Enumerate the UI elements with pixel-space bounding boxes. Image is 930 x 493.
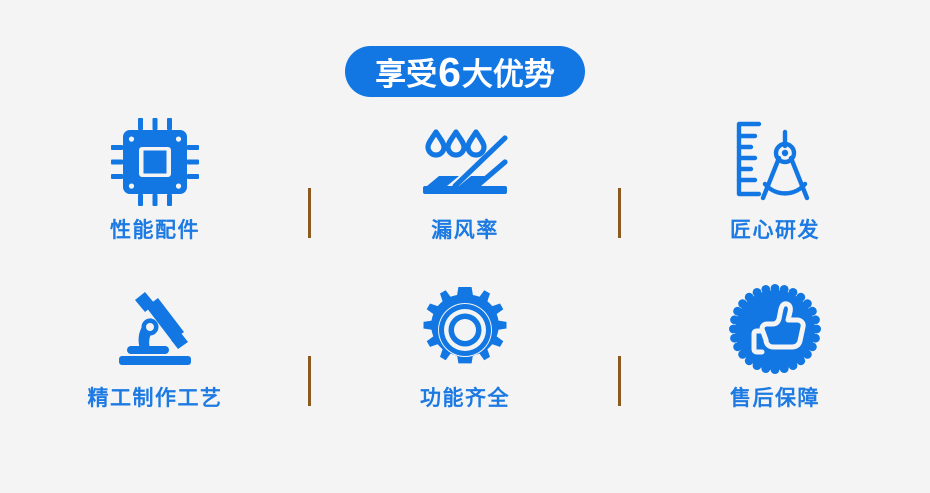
feature-label: 售后保障 — [730, 388, 820, 409]
feature-item-performance-parts: 性能配件 — [0, 112, 310, 280]
feature-item-workmanship: 精工制作工艺 — [0, 280, 310, 448]
promo-feature-page: { "page": { "background_color": "#f4f4f4… — [0, 0, 930, 493]
feature-label: 匠心研发 — [730, 220, 820, 241]
feature-item-full-function: 功能齐全 — [310, 280, 620, 448]
water-droplets-repellent-icon — [417, 114, 513, 210]
feature-item-air-leak-rate: 漏风率 — [310, 112, 620, 280]
feature-label: 精工制作工艺 — [88, 388, 223, 409]
feature-item-after-sales: 售后保障 — [620, 280, 930, 448]
gear-icon — [417, 282, 513, 378]
microscope-icon — [107, 282, 203, 378]
cpu-chip-icon — [107, 114, 203, 210]
feature-label: 功能齐全 — [420, 388, 510, 409]
thumbs-up-badge-icon — [727, 282, 823, 378]
headline-badge-text: 享受6大优势 — [375, 51, 555, 92]
feature-grid: 性能配件 — [0, 112, 930, 448]
feature-label: 性能配件 — [110, 220, 200, 241]
feature-label: 漏风率 — [431, 220, 499, 241]
header: 享受6大优势 — [0, 46, 930, 97]
headline-suffix: 大优势 — [462, 59, 555, 90]
headline-badge: 享受6大优势 — [345, 46, 585, 97]
ruler-compass-icon — [727, 114, 823, 210]
headline-prefix: 享受 — [375, 59, 437, 90]
headline-number: 6 — [437, 52, 462, 93]
feature-item-rnd: 匠心研发 — [620, 112, 930, 280]
